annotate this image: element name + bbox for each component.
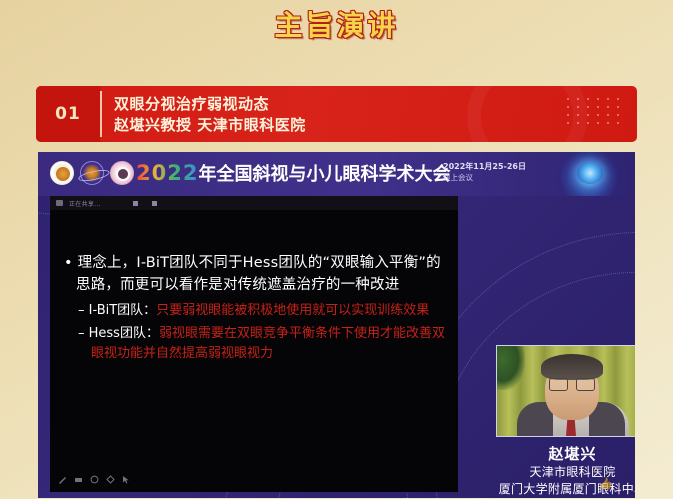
eraser-icon[interactable] xyxy=(74,475,83,484)
sub-bullet-label: I-BiT团队： xyxy=(89,303,157,318)
conference-title: 2022年全国斜视与小儿眼科学术大会 xyxy=(136,160,450,186)
session-banner-text: 双眼分视治疗弱视动态 赵堪兴教授 天津市眼科医院 xyxy=(114,94,306,136)
slide-main-bullet-text: 理念上，I-BiT团队不同于Hess团队的“双眼输入平衡”的思路，而更可以看作是… xyxy=(76,255,441,293)
screen-share-toolbar[interactable]: 正在共享... xyxy=(50,196,458,210)
glasses-lens-left xyxy=(549,378,568,391)
slide-main-bullet: • 理念上，I-BiT团队不同于Hess团队的“双眼输入平衡”的思路，而更可以看… xyxy=(64,252,446,296)
banner-divider xyxy=(100,91,102,137)
pause-icon[interactable] xyxy=(133,201,138,206)
banner-dot-grid-decoration xyxy=(563,95,625,125)
cursor-icon[interactable] xyxy=(122,475,131,484)
conference-logos xyxy=(50,161,134,185)
conference-date: 2022年11月25-26日 xyxy=(443,161,526,172)
conference-header: 2022年全国斜视与小儿眼科学术大会 2022年11月25-26日 线上会议 xyxy=(38,152,635,196)
conference-year: 2022 xyxy=(136,161,198,185)
session-number: 01 xyxy=(36,86,100,142)
plant-decoration xyxy=(497,346,525,390)
speaker-hair xyxy=(541,354,603,380)
slide-content: • 理念上，I-BiT团队不同于Hess团队的“双眼输入平衡”的思路，而更可以看… xyxy=(64,252,446,367)
conference-mode: 线上会议 xyxy=(443,172,526,183)
slide-sub-bullets: – I-BiT团队：只要弱视眼能被积极地使用就可以实现训练效果 – Hess团队… xyxy=(64,301,446,364)
conference-title-rest: 年全国斜视与小儿眼科学术大会 xyxy=(198,164,450,185)
sub-bullet-highlight: 只要弱视眼能被积极地使用就可以实现训练效果 xyxy=(156,303,429,318)
slide-sub-bullet: – I-BiT团队：只要弱视眼能被积极地使用就可以实现训练效果 xyxy=(78,301,446,321)
highlighter-icon[interactable] xyxy=(106,475,115,484)
orbit-logo-icon xyxy=(80,161,104,185)
eye-graphic-icon xyxy=(525,152,635,196)
page-title: 主旨演讲 xyxy=(274,4,398,44)
glasses-lens-right xyxy=(576,378,595,391)
session-speaker-affiliation: 赵堪兴教授 天津市眼科医院 xyxy=(114,114,306,136)
shared-slide[interactable]: 正在共享... • 理念上，I-BiT团队不同于Hess团队的“双眼输入平衡”的… xyxy=(50,196,458,492)
glasses-icon xyxy=(549,378,595,391)
slide-sub-bullet: – Hess团队：弱视眼需要在双眼竞争平衡条件下使用才能改善双眼视功能并自然提高… xyxy=(78,324,446,364)
like-icon[interactable]: 👍 xyxy=(599,477,613,490)
share-cloud-icon xyxy=(56,200,63,206)
eye-emblem-logo-icon xyxy=(110,161,134,185)
conference-date-block: 2022年11月25-26日 线上会议 xyxy=(443,161,526,183)
share-status-label: 正在共享... xyxy=(69,199,101,208)
meeting-video-panel[interactable]: 2022年全国斜视与小儿眼科学术大会 2022年11月25-26日 线上会议 正… xyxy=(38,152,635,498)
stop-icon[interactable] xyxy=(152,201,157,206)
shape-icon[interactable] xyxy=(90,475,99,484)
annotation-toolbar[interactable] xyxy=(58,475,131,484)
page-title-container: 主旨演讲 xyxy=(0,4,673,44)
speaker-webcam-tile[interactable] xyxy=(496,345,635,437)
pen-icon[interactable] xyxy=(58,475,67,484)
session-topic: 双眼分视治疗弱视动态 xyxy=(114,94,306,114)
sub-bullet-label: Hess团队： xyxy=(89,326,159,341)
crest-logo-icon xyxy=(50,161,74,185)
speaker-name: 赵堪兴 xyxy=(480,444,635,464)
session-banner[interactable]: 01 双眼分视治疗弱视动态 赵堪兴教授 天津市眼科医院 xyxy=(36,86,637,142)
